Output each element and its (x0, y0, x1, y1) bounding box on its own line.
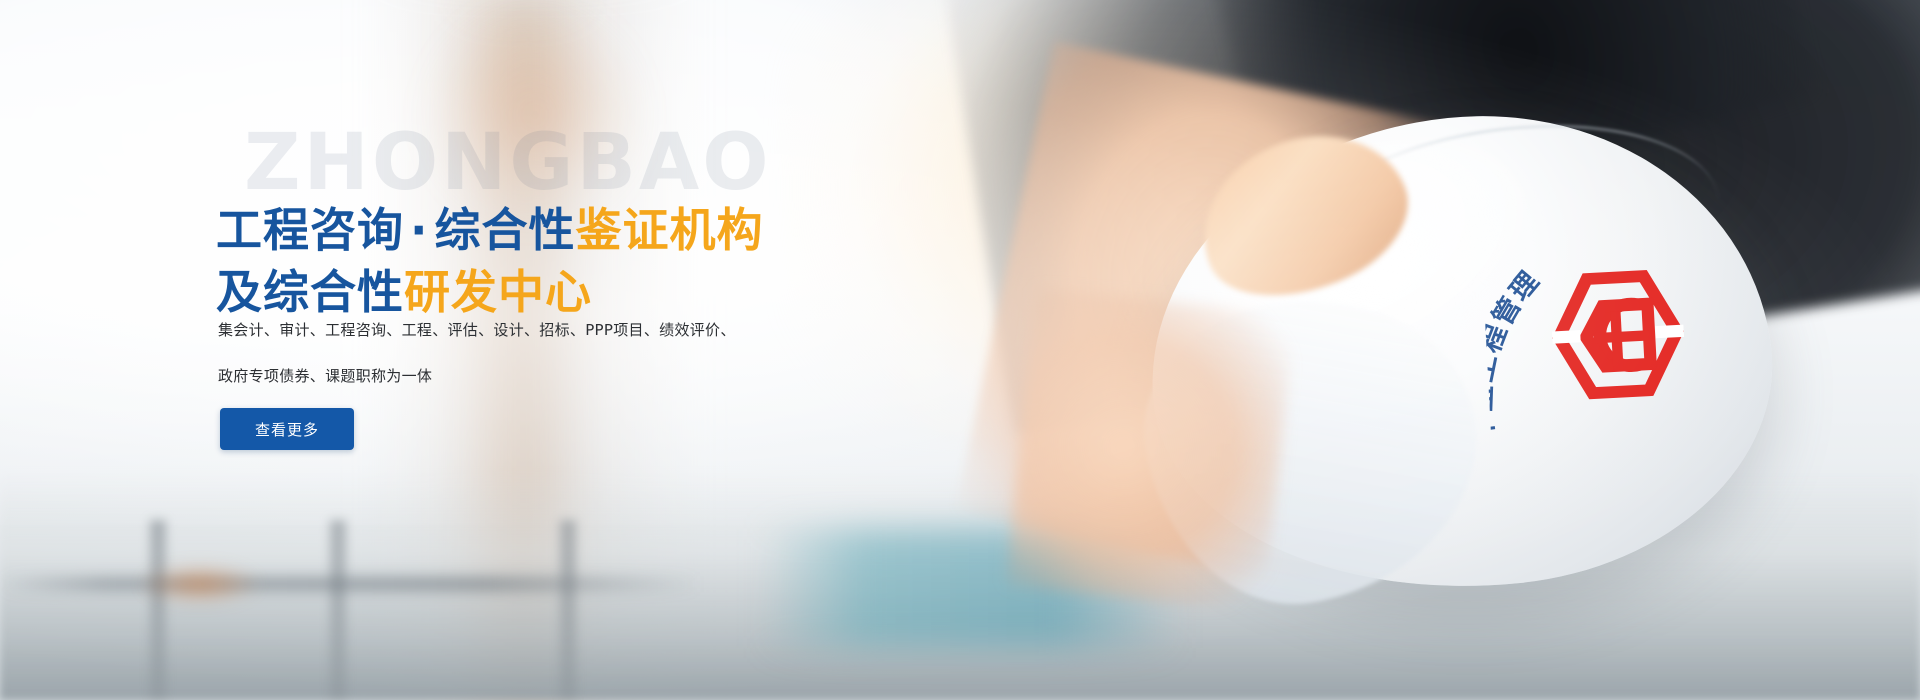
helmet-logo: 中宝工程管理 (1480, 204, 1743, 467)
headline-line1-part1: 工程咨询 (216, 203, 404, 257)
hero-content: ZHONGBAO 工程咨询·综合性鉴证机构 及综合性研发中心 集会计、审计、工程… (216, 0, 976, 700)
hero-description-line2: 政府专项债券、课题职称为一体 (218, 353, 818, 399)
hero-banner: 中宝工程管理 ZHONGBAO 工程咨询·综合性鉴证机构 及综合性研发中心 集会… (0, 0, 1920, 700)
hero-description-line1: 集会计、审计、工程咨询、工程、评估、设计、招标、PPP项目、绩效评价、 (218, 307, 818, 353)
watermark-text: ZHONGBAO (244, 118, 772, 208)
page-title: 工程咨询·综合性鉴证机构 及综合性研发中心 (216, 199, 763, 323)
background-fingers (1005, 287, 1295, 613)
hexagon-emblem-icon (1549, 268, 1687, 401)
headline-line1-part2: 综合性 (434, 203, 575, 257)
background-post-left (150, 520, 166, 700)
view-more-button[interactable]: 查看更多 (220, 408, 354, 450)
hero-description: 集会计、审计、工程咨询、工程、评估、设计、招标、PPP项目、绩效评价、 政府专项… (218, 307, 818, 399)
headline-separator: · (404, 203, 434, 257)
helmet-logo-arc-label: 中宝工程管理 (1480, 264, 1555, 445)
headline-line1-part3: 鉴证机构 (575, 203, 763, 257)
